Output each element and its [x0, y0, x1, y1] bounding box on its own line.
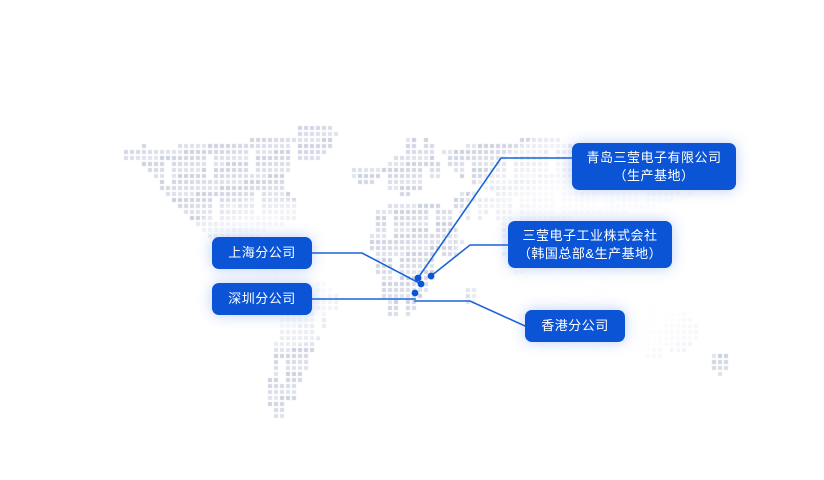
label-hongkong-line1: 香港分公司	[541, 317, 609, 335]
label-shanghai-line1: 上海分公司	[228, 244, 296, 262]
label-qingdao-factory[interactable]: 青岛三莹电子有限公司 （生产基地）	[572, 143, 736, 190]
dotted-world-map	[0, 0, 824, 480]
label-korea-headquarters[interactable]: 三莹电子工业株式会社 （韩国总部&生产基地）	[508, 221, 672, 268]
label-shenzhen-branch[interactable]: 深圳分公司	[212, 283, 312, 315]
world-map-infographic: 青岛三莹电子有限公司 （生产基地） 三莹电子工业株式会社 （韩国总部&生产基地）…	[0, 0, 824, 480]
label-qingdao-line1: 青岛三莹电子有限公司	[586, 149, 721, 167]
world-map-dot-canvas	[0, 0, 824, 480]
label-hongkong-branch[interactable]: 香港分公司	[525, 310, 625, 342]
label-qingdao-line2: （生产基地）	[613, 167, 694, 185]
label-korea-line2: （韩国总部&生产基地）	[518, 245, 662, 263]
label-shanghai-branch[interactable]: 上海分公司	[212, 237, 312, 269]
label-korea-line1: 三莹电子工业株式会社	[522, 227, 657, 245]
label-shenzhen-line1: 深圳分公司	[228, 290, 296, 308]
